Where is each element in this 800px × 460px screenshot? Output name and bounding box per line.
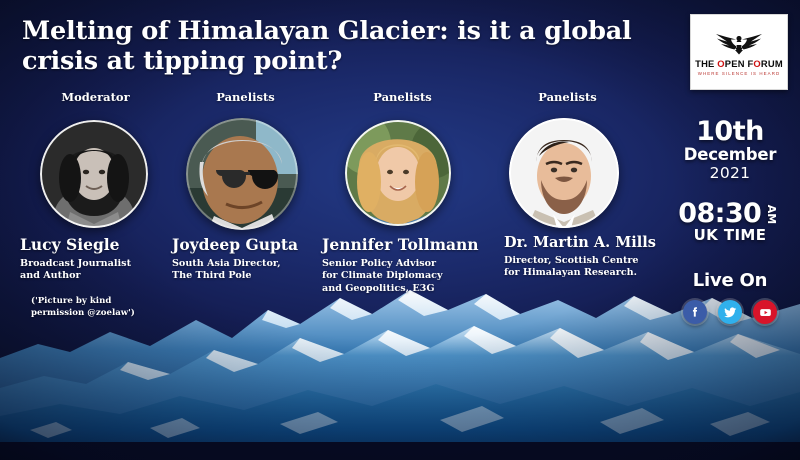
logo-wordmark: THE OPEN FORUM <box>695 58 783 69</box>
logo-tagline: WHERE SILENCE IS HEARD <box>698 71 781 76</box>
speaker-name-2: Joydeep Gupta <box>172 236 298 253</box>
twitter-icon[interactable] <box>718 300 742 324</box>
avatar-martin-mills <box>509 118 619 228</box>
role-label-panelist-3: Panelists <box>490 90 645 104</box>
logo-text-o2: O <box>753 58 761 69</box>
avatar-photo <box>345 120 451 226</box>
logo-text-o1: O <box>717 58 725 69</box>
social-links <box>660 300 800 324</box>
brand-logo: THE OPEN FORUM WHERE SILENCE IS HEARD <box>690 14 788 90</box>
avatar-photo <box>186 118 298 230</box>
avatar-lucy-siegle <box>40 120 148 228</box>
facebook-icon[interactable] <box>683 300 707 324</box>
role-label-panelist-1: Panelists <box>168 90 323 104</box>
role-label-moderator: Moderator <box>18 90 173 104</box>
speaker-role-3: Senior Policy Advisor for Climate Diplom… <box>322 258 484 295</box>
page-title: Melting of Himalayan Glacier: is it a gl… <box>22 16 642 76</box>
event-timezone: UK TIME <box>660 227 800 244</box>
avatar-photo <box>509 118 619 228</box>
event-day: 10th <box>660 118 800 145</box>
event-time-value: 08:30 <box>678 200 761 228</box>
event-ampm: AM <box>765 204 778 223</box>
avatar-photo <box>40 120 148 228</box>
event-date: 10th December 2021 <box>660 118 800 182</box>
speaker-name-3: Jennifer Tollmann <box>322 236 479 253</box>
logo-text-2: PEN F <box>725 58 754 69</box>
logo-text-3: RUM <box>761 58 783 69</box>
role-label-panelist-2: Panelists <box>325 90 480 104</box>
bottom-bar <box>0 442 800 460</box>
avatar-joydeep-gupta <box>186 118 298 230</box>
speaker-role-2: South Asia Director, The Third Pole <box>172 258 322 283</box>
youtube-icon[interactable] <box>753 300 777 324</box>
webinar-poster: Melting of Himalayan Glacier: is it a gl… <box>0 0 800 460</box>
event-time: 08:30 AM UK TIME <box>660 200 800 244</box>
speaker-role-1: Broadcast Journalist and Author <box>20 258 170 283</box>
speaker-name-4: Dr. Martin A. Mills <box>504 234 656 251</box>
speaker-role-4: Director, Scottish Centre for Himalayan … <box>504 255 674 280</box>
event-month: December <box>660 145 800 164</box>
live-on-label: Live On <box>660 270 800 291</box>
speaker-note-1: ('Picture by kind permission @zoelaw') <box>31 296 181 319</box>
eagle-icon <box>708 31 770 57</box>
logo-text-1: THE <box>695 58 717 69</box>
avatar-jennifer-tollmann <box>345 120 451 226</box>
event-year: 2021 <box>660 164 800 182</box>
speaker-name-1: Lucy Siegle <box>20 236 120 253</box>
